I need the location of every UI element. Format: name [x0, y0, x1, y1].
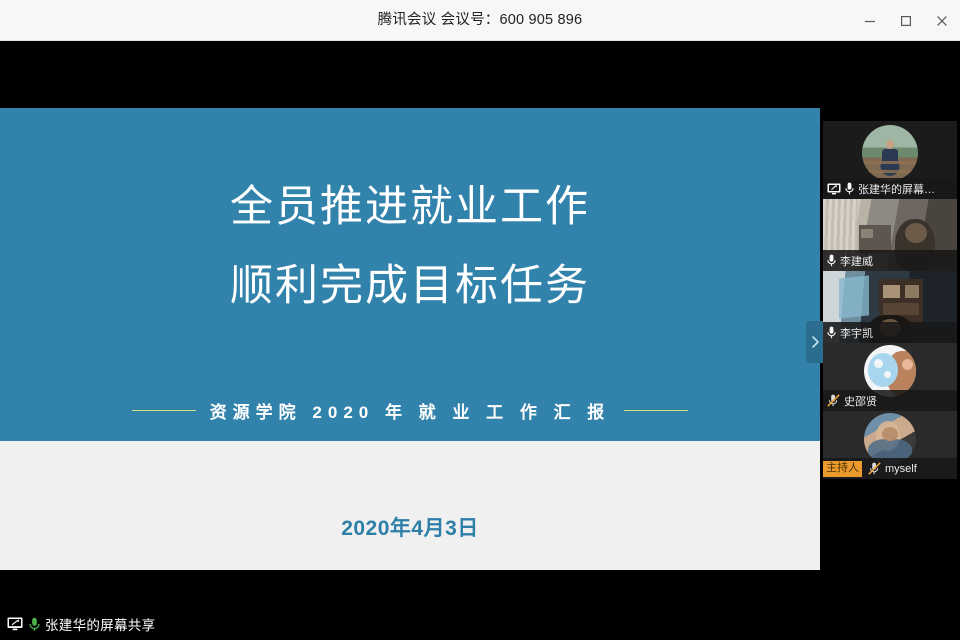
meeting-stage: 全员推进就业工作 顺利完成目标任务 资源学院 2020 年 就 业 工 作 汇 …	[0, 41, 960, 640]
collapse-sidebar-button[interactable]	[806, 321, 823, 363]
mic-muted-icon	[827, 394, 840, 407]
minimize-icon	[864, 15, 876, 27]
screen-share-icon	[827, 183, 841, 195]
window-controls	[852, 0, 960, 41]
mic-icon	[827, 326, 836, 339]
host-badge: 主持人	[823, 461, 862, 477]
participant-name: 李宇凯	[840, 325, 873, 341]
maximize-button[interactable]	[888, 0, 924, 41]
chevron-right-icon	[810, 335, 820, 349]
slide-subtitle: 资源学院 2020 年 就 业 工 作 汇 报	[210, 398, 611, 423]
screen-share-icon	[7, 617, 24, 631]
mic-icon	[845, 182, 854, 195]
avatar	[862, 125, 918, 181]
shared-screen-slide[interactable]: 全员推进就业工作 顺利完成目标任务 资源学院 2020 年 就 业 工 作 汇 …	[0, 108, 820, 570]
participant-name: myself	[885, 463, 917, 475]
participant-namebar: 李宇凯	[823, 322, 957, 343]
participant-tile[interactable]: 史邵贤	[823, 343, 957, 411]
participant-tile[interactable]: 主持人 myself	[823, 411, 957, 479]
mic-active-icon	[29, 617, 40, 632]
mic-icon	[827, 254, 836, 267]
mic-muted-icon	[868, 462, 881, 475]
minimize-button[interactable]	[852, 0, 888, 41]
rule-left	[132, 410, 196, 411]
rule-right	[624, 410, 688, 411]
window-title: 腾讯会议 会议号：600 905 896	[0, 0, 960, 41]
participant-name: 李建威	[840, 253, 873, 269]
participant-namebar: 张建华的屏幕…	[823, 178, 957, 199]
participant-namebar: 主持人 myself	[823, 458, 957, 479]
maximize-icon	[900, 15, 912, 27]
slide-title-line2: 顺利完成目标任务	[0, 265, 820, 308]
title-bar: 腾讯会议 会议号：600 905 896	[0, 0, 960, 41]
slide-title-line1: 全员推进就业工作	[230, 184, 590, 231]
participant-tile[interactable]: 李宇凯	[823, 271, 957, 343]
participant-namebar: 李建威	[823, 250, 957, 271]
slide-date: 2020年4月3日	[0, 512, 820, 542]
meeting-window: 腾讯会议 会议号：600 905 896	[0, 0, 960, 640]
close-button[interactable]	[924, 0, 960, 41]
participant-sidebar: 张建华的屏幕… 李建威	[823, 121, 957, 479]
participant-name: 史邵贤	[844, 393, 877, 409]
participant-name: 张建华的屏幕…	[858, 181, 935, 197]
participant-tile[interactable]: 李建威	[823, 199, 957, 271]
participant-namebar: 史邵贤	[823, 390, 957, 411]
close-icon	[936, 15, 948, 27]
share-status-bar: 张建华的屏幕共享	[0, 608, 960, 640]
slide-subtitle-row: 资源学院 2020 年 就 业 工 作 汇 报	[0, 396, 820, 424]
slide-title: 全员推进就业工作 顺利完成目标任务	[0, 186, 820, 308]
share-status-text: 张建华的屏幕共享	[45, 614, 155, 634]
participant-tile[interactable]: 张建华的屏幕…	[823, 121, 957, 199]
